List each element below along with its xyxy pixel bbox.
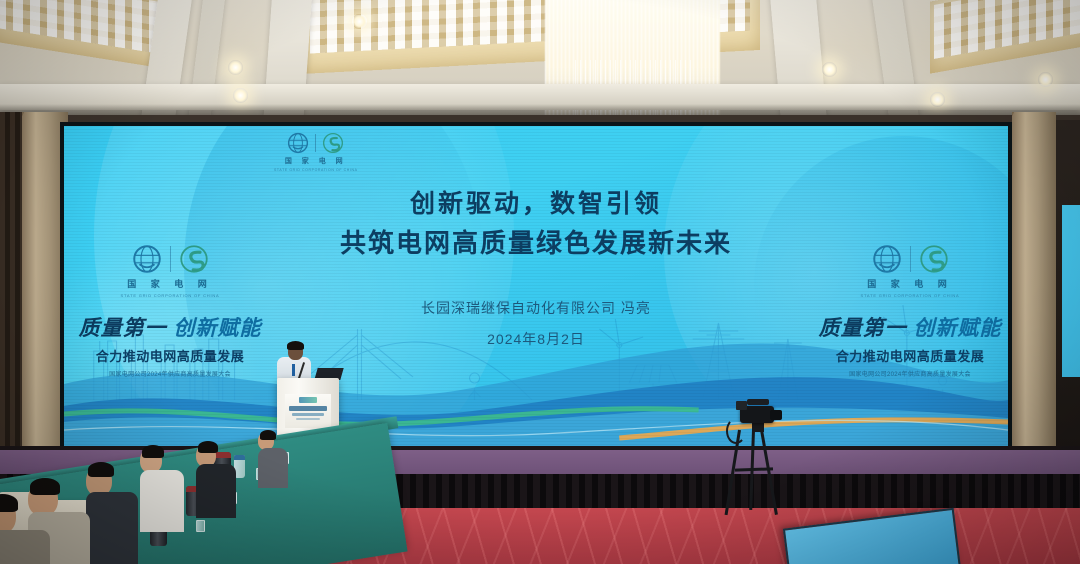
banner-left-headline-b: 创新赋能 [173, 317, 261, 340]
banner-right-footline: 国家电网公司2024年供应商高质量发展大会 [816, 369, 1004, 378]
banner-left-headline: 质量第一 创新赋能 [76, 312, 264, 342]
banner-right-logo-en: STATE GRID CORPORATION OF CHINA [860, 293, 959, 298]
speaker-hair [287, 341, 304, 350]
podium-panel-footline [296, 418, 320, 420]
led-screen: 国 家 电 网 STATE GRID CORPORATION OF CHINA … [64, 126, 1008, 448]
podium-panel-subhead [292, 413, 324, 416]
audience-member [140, 448, 184, 532]
podium-branding-panel [285, 394, 331, 428]
state-grid-logo-en: STATE GRID CORPORATION OF CHINA [274, 168, 358, 172]
banner-right-logo: 国 家 电 网 STATE GRID CORPORATION OF CHINA [816, 244, 1004, 298]
banner-left-headline-a: 质量第一 [79, 317, 167, 340]
state-grid-globe-icon [132, 244, 162, 274]
banner-right-headline: 质量第一 创新赋能 [816, 312, 1004, 342]
supply-chain-s-icon [919, 244, 949, 274]
downlight-icon [822, 62, 837, 77]
audience-member [0, 498, 50, 564]
supply-chain-s-icon [179, 244, 209, 274]
state-grid-logo-cn: 国 家 电 网 [285, 156, 347, 166]
camera-monitor [736, 401, 747, 410]
speaker-badge [292, 364, 295, 376]
state-grid-logo-top: 国 家 电 网 STATE GRID CORPORATION OF CHINA [274, 132, 358, 172]
state-grid-globe-icon [872, 244, 902, 274]
banner-left: 国 家 电 网 STATE GRID CORPORATION OF CHINA … [76, 244, 264, 378]
drinking-glass [196, 520, 205, 532]
state-grid-globe-icon [287, 132, 309, 154]
banner-right-subhead: 合力推动电网高质量发展 [816, 346, 1004, 365]
camera-top-handle [747, 399, 769, 405]
supply-chain-s-icon [322, 132, 344, 154]
title-line-1: 创新驱动，数智引领 [64, 186, 1008, 224]
downlight-icon [233, 88, 248, 103]
downlight-icon [228, 60, 243, 75]
banner-left-subhead: 合力推动电网高质量发展 [76, 346, 264, 365]
conference-hall-photo: 国 家 电 网 STATE GRID CORPORATION OF CHINA … [0, 0, 1080, 564]
banner-left-logo-en: STATE GRID CORPORATION OF CHINA [120, 293, 219, 298]
ceiling-coffer-right [930, 0, 1080, 74]
podium-logo-icon [299, 397, 317, 403]
banner-right-headline-b: 创新赋能 [913, 317, 1001, 340]
audience-member [258, 432, 288, 488]
camera-lens [770, 410, 782, 420]
led-screen-frame: 国 家 电 网 STATE GRID CORPORATION OF CHINA … [60, 122, 1012, 452]
banner-left-logo-cn: 国 家 电 网 [127, 277, 213, 290]
audience-member [86, 466, 138, 564]
banner-right-headline-a: 质量第一 [819, 317, 907, 340]
fret-pattern-left [0, 0, 172, 56]
podium-panel-headline [289, 406, 327, 411]
banner-left-logo: 国 家 电 网 STATE GRID CORPORATION OF CHINA [76, 244, 264, 298]
secondary-led-screen [1062, 205, 1080, 377]
downlight-icon [1038, 72, 1053, 87]
downlight-icon [352, 14, 367, 29]
banner-left-footline: 国家电网公司2024年供应商高质量发展大会 [76, 369, 264, 378]
marble-pillar-right [1012, 112, 1056, 452]
fret-pattern-right [934, 0, 1080, 59]
ceiling [0, 0, 1080, 118]
banner-right-logo-cn: 国 家 电 网 [867, 277, 953, 290]
banner-right: 国 家 电 网 STATE GRID CORPORATION OF CHINA … [816, 244, 1004, 378]
camera-cable [726, 418, 746, 444]
audience-member [196, 444, 236, 518]
tripod-head [752, 422, 764, 432]
